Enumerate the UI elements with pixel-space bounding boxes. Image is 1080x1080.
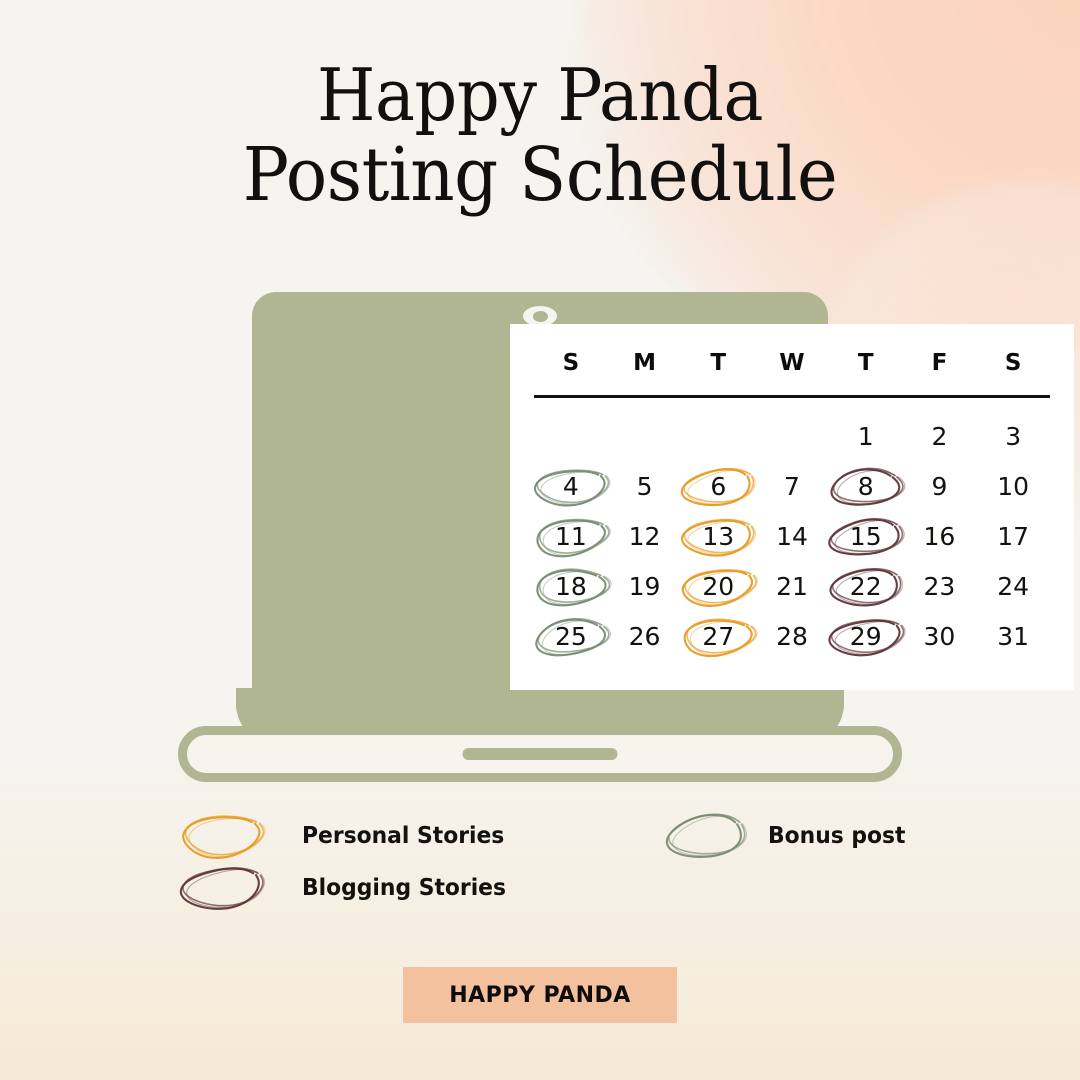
legend-item-label: Blogging Stories <box>302 875 506 901</box>
poster-canvas: Happy Panda Posting Schedule SMTWTFS 123… <box>0 0 1080 1080</box>
webcam-dot <box>533 311 548 322</box>
calendar-day-cell[interactable]: 25 <box>534 612 608 662</box>
calendar-day-cell[interactable]: 22 <box>829 562 903 612</box>
calendar-day-header: S <box>976 350 1050 376</box>
calendar-day-number: 9 <box>931 474 947 499</box>
calendar-day-number: 3 <box>1005 424 1021 449</box>
legend-item-label: Bonus post <box>768 823 905 849</box>
legend-item: Personal Stories <box>174 808 515 864</box>
calendar-day-cell[interactable]: 13 <box>681 512 755 562</box>
calendar-divider <box>534 395 1050 398</box>
laptop-illustration: SMTWTFS 12345678910111213141516171819202… <box>0 292 1080 782</box>
calendar-day-number: 5 <box>637 474 653 499</box>
calendar-day-number: 24 <box>997 574 1029 599</box>
calendar-day-number: 11 <box>555 524 587 549</box>
calendar-day-number: 10 <box>997 474 1029 499</box>
calendar-day-cell[interactable]: 24 <box>976 562 1050 612</box>
calendar-day-cell[interactable]: 31 <box>976 612 1050 662</box>
laptop-screen: SMTWTFS 12345678910111213141516171819202… <box>510 324 1074 690</box>
calendar-day-number: 30 <box>924 624 956 649</box>
calendar-day-number: 18 <box>555 574 587 599</box>
footer-brand-banner: HAPPY PANDA <box>403 967 677 1023</box>
calendar-day-number: 21 <box>776 574 808 599</box>
legend-item: Blogging Stories <box>174 860 517 916</box>
legend-circle-icon <box>658 808 754 864</box>
calendar-day-header: F <box>903 350 977 376</box>
calendar-day-cell[interactable]: 2 <box>903 412 977 462</box>
laptop-lid: SMTWTFS 12345678910111213141516171819202… <box>252 292 828 716</box>
calendar-day-number: 4 <box>563 474 579 499</box>
calendar-day-cell[interactable]: 17 <box>976 512 1050 562</box>
calendar-day-header: T <box>829 350 903 376</box>
laptop-base <box>178 726 902 782</box>
calendar-day-cell[interactable]: 28 <box>755 612 829 662</box>
laptop-trackpad <box>463 748 618 760</box>
calendar-day-cell[interactable]: 29 <box>829 612 903 662</box>
calendar-day-number: 27 <box>702 624 734 649</box>
calendar-day-cell[interactable]: 20 <box>681 562 755 612</box>
calendar-day-number: 6 <box>710 474 726 499</box>
calendar-day-header: W <box>755 350 829 376</box>
calendar-day-number: 13 <box>702 524 734 549</box>
calendar-empty-cell <box>755 412 829 462</box>
calendar-day-cell[interactable]: 8 <box>829 462 903 512</box>
calendar-day-number: 16 <box>924 524 956 549</box>
calendar-day-cell[interactable]: 18 <box>534 562 608 612</box>
calendar-day-cell[interactable]: 15 <box>829 512 903 562</box>
calendar-day-number: 28 <box>776 624 808 649</box>
calendar-day-cell[interactable]: 14 <box>755 512 829 562</box>
legend-item: Bonus post <box>658 808 913 864</box>
legend-circle-icon <box>174 808 270 864</box>
footer-brand-label: HAPPY PANDA <box>449 983 631 1008</box>
calendar-day-number: 19 <box>629 574 661 599</box>
calendar-day-number: 12 <box>629 524 661 549</box>
calendar-day-number: 14 <box>776 524 808 549</box>
calendar-day-number: 8 <box>858 474 874 499</box>
calendar-day-number: 2 <box>931 424 947 449</box>
calendar-day-cell[interactable]: 12 <box>608 512 682 562</box>
calendar-day-number: 1 <box>858 424 874 449</box>
page-title: Happy Panda Posting Schedule <box>0 60 1080 211</box>
legend-item-label: Personal Stories <box>302 823 504 849</box>
legend-circle-icon <box>174 860 270 916</box>
calendar-day-cell[interactable]: 1 <box>829 412 903 462</box>
calendar-day-cell[interactable]: 7 <box>755 462 829 512</box>
calendar-day-headers: SMTWTFS <box>534 350 1050 376</box>
calendar-empty-cell <box>681 412 755 462</box>
calendar-day-number: 26 <box>629 624 661 649</box>
calendar-day-cell[interactable]: 4 <box>534 462 608 512</box>
calendar-day-number: 22 <box>850 574 882 599</box>
calendar-day-cell[interactable]: 3 <box>976 412 1050 462</box>
calendar-day-cell[interactable]: 27 <box>681 612 755 662</box>
calendar-day-number: 29 <box>850 624 882 649</box>
calendar-day-cell[interactable]: 9 <box>903 462 977 512</box>
calendar-empty-cell <box>608 412 682 462</box>
calendar-day-header: S <box>534 350 608 376</box>
calendar-grid: 1234567891011121314151617181920212223242… <box>534 412 1050 662</box>
legend: Personal StoriesBlogging StoriesBonus po… <box>0 800 1080 935</box>
calendar-day-cell[interactable]: 23 <box>903 562 977 612</box>
webcam-icon <box>523 306 557 326</box>
calendar-day-cell[interactable]: 6 <box>681 462 755 512</box>
calendar-day-header: T <box>681 350 755 376</box>
title-line-2: Posting Schedule <box>38 139 1042 212</box>
calendar-day-header: M <box>608 350 682 376</box>
calendar-day-cell[interactable]: 19 <box>608 562 682 612</box>
calendar-day-number: 25 <box>555 624 587 649</box>
calendar-day-number: 23 <box>924 574 956 599</box>
calendar: SMTWTFS 12345678910111213141516171819202… <box>510 324 1074 690</box>
calendar-empty-cell <box>534 412 608 462</box>
calendar-day-number: 20 <box>702 574 734 599</box>
calendar-day-cell[interactable]: 10 <box>976 462 1050 512</box>
calendar-day-number: 15 <box>850 524 882 549</box>
calendar-day-cell[interactable]: 30 <box>903 612 977 662</box>
title-line-1: Happy Panda <box>38 60 1042 131</box>
calendar-day-cell[interactable]: 5 <box>608 462 682 512</box>
calendar-day-number: 31 <box>997 624 1029 649</box>
calendar-day-cell[interactable]: 21 <box>755 562 829 612</box>
calendar-day-number: 17 <box>997 524 1029 549</box>
calendar-day-number: 7 <box>784 474 800 499</box>
calendar-day-cell[interactable]: 11 <box>534 512 608 562</box>
calendar-day-cell[interactable]: 16 <box>903 512 977 562</box>
calendar-day-cell[interactable]: 26 <box>608 612 682 662</box>
